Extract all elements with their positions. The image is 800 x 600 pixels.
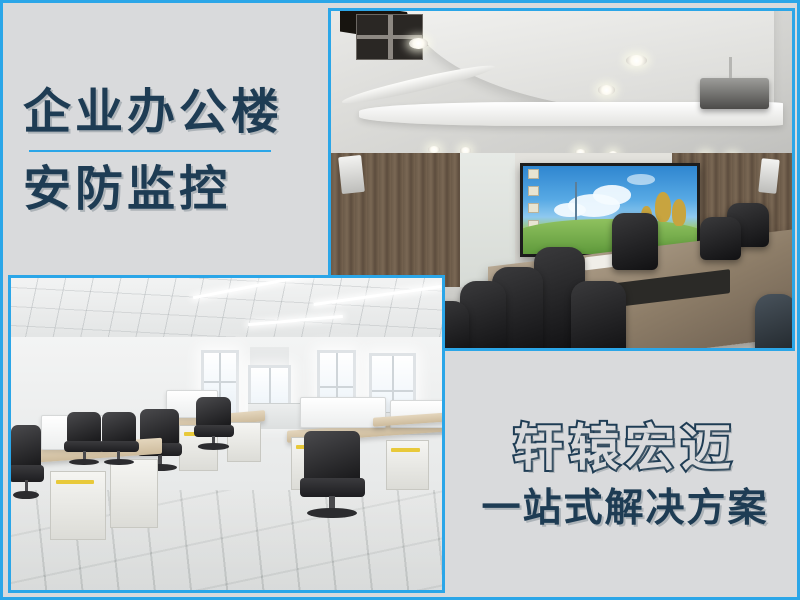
- cloud-shape: [554, 203, 585, 217]
- headline-block: 企业办公楼 安防监控: [23, 85, 313, 218]
- ceiling-vent-grille: [356, 14, 423, 60]
- desk-pedestal: [386, 440, 429, 490]
- projection-screen-image: [523, 166, 697, 254]
- desk-pedestal: [110, 459, 157, 528]
- ceiling: [11, 278, 442, 344]
- tree-shape: [672, 199, 686, 226]
- drawer-label: [391, 448, 420, 452]
- projector: [700, 78, 769, 108]
- banner-canvas: 企业办公楼 安防监控: [0, 0, 800, 600]
- projection-screen: [520, 163, 700, 257]
- brand-name: 轩辕宏迈: [455, 418, 795, 478]
- ceiling-tile-grid: [11, 278, 442, 344]
- conference-chair: [612, 213, 658, 270]
- drawer-label: [56, 480, 94, 484]
- office-chair: [196, 397, 230, 450]
- tree-shape: [655, 192, 671, 222]
- open-plan-office-scene: [11, 278, 442, 590]
- downlight-icon: [626, 55, 647, 66]
- conference-chair: [700, 217, 741, 261]
- office-chair: [67, 412, 101, 465]
- cloud-shape: [627, 174, 655, 185]
- cloud-shape: [593, 185, 631, 204]
- downlight-icon: [409, 38, 427, 49]
- office-chair: [102, 412, 136, 465]
- brand-block: 轩辕宏迈 一站式解决方案: [455, 418, 795, 532]
- headline-line-2: 安防监控: [23, 162, 313, 218]
- conference-chair: [755, 294, 792, 348]
- downlight-icon: [428, 146, 440, 153]
- headline-divider: [29, 150, 271, 152]
- open-plan-office-photo: [8, 275, 445, 593]
- office-chair: [11, 425, 41, 500]
- wall-speaker-right: [758, 158, 780, 193]
- conference-chair: [571, 281, 626, 348]
- brand-tagline: 一站式解决方案: [455, 486, 795, 532]
- downlight-icon: [598, 85, 615, 94]
- headline-line-1: 企业办公楼: [23, 85, 313, 141]
- wall-speaker-left: [338, 155, 365, 194]
- desk-pedestal: [50, 471, 106, 540]
- office-chair: [304, 431, 360, 518]
